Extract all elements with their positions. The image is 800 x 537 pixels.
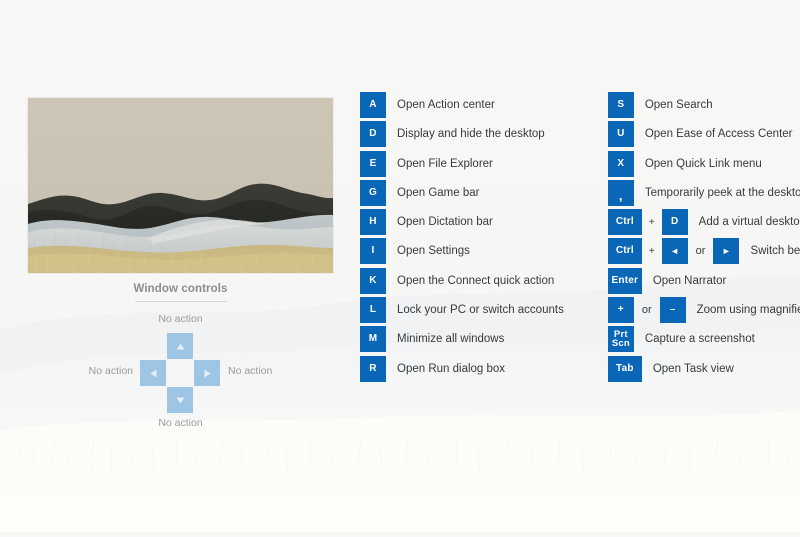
shortcut-row: EnterOpen Narrator [608, 268, 800, 294]
key-cap[interactable]: + [608, 297, 634, 323]
key-cap[interactable]: D [662, 209, 688, 235]
shortcut-row: Ctrl+DAdd a virtual desktop [608, 209, 800, 235]
shortcut-row: IOpen Settings [360, 238, 564, 264]
window-control-label-down: No action [158, 417, 202, 429]
shortcut-row: PrtScnCapture a screenshot [608, 326, 800, 352]
shortcut-row: KOpen the Connect quick action [360, 268, 564, 294]
key-cap[interactable]: PrtScn [608, 326, 634, 352]
shortcut-description: Switch between [750, 245, 800, 257]
shortcut-description: Open Dictation bar [397, 216, 493, 228]
shortcut-description: Open Narrator [653, 275, 727, 287]
arrow-right-icon [204, 369, 211, 378]
window-controls-title: Window controls [28, 283, 333, 295]
shortcut-description: Zoom using magnifier [697, 304, 800, 316]
window-controls-keypad: No action No action No action No action [28, 308, 333, 431]
shortcut-description: Open Task view [653, 363, 734, 375]
shortcut-description: Open Ease of Access Center [645, 128, 793, 140]
shortcut-row: DDisplay and hide the desktop [360, 121, 564, 147]
arrow-left-icon[interactable]: ◄ [662, 238, 688, 264]
shortcut-row: UOpen Ease of Access Center [608, 121, 800, 147]
shortcut-description: Open Game bar [397, 187, 479, 199]
key-cap[interactable]: K [360, 268, 386, 294]
key-cap[interactable]: – [660, 297, 686, 323]
shortcut-description: Open Settings [397, 245, 470, 257]
key-cap[interactable]: Enter [608, 268, 642, 294]
key-cap[interactable]: Ctrl [608, 238, 642, 264]
window-control-label-up: No action [158, 313, 202, 325]
divider [135, 301, 227, 302]
key-cap[interactable]: G [360, 180, 386, 206]
key-cap[interactable]: D [360, 121, 386, 147]
key-cap[interactable]: A [360, 92, 386, 118]
shortcut-description: Open Action center [397, 99, 495, 111]
arrow-left-icon [150, 369, 157, 378]
shortcut-row: AOpen Action center [360, 92, 564, 118]
shortcut-row: SOpen Search [608, 92, 800, 118]
shortcuts-column-right: SOpen SearchUOpen Ease of Access CenterX… [608, 92, 800, 385]
window-control-key-down[interactable] [167, 387, 193, 413]
shortcut-row: ROpen Run dialog box [360, 356, 564, 382]
key-cap-line: Scn [612, 339, 630, 349]
shortcut-description: Open the Connect quick action [397, 275, 554, 287]
key-cap[interactable]: H [360, 209, 386, 235]
key-cap[interactable]: E [360, 151, 386, 177]
shortcut-row: LLock your PC or switch accounts [360, 297, 564, 323]
arrow-up-icon [176, 343, 185, 350]
or-separator: or [688, 245, 714, 257]
arrow-right-icon[interactable]: ► [713, 238, 739, 264]
shortcut-row: Ctrl+◄or►Switch between [608, 238, 800, 264]
key-cap[interactable]: I [360, 238, 386, 264]
arrow-down-icon [176, 397, 185, 404]
shortcut-description: Display and hide the desktop [397, 128, 545, 140]
shortcut-row: XOpen Quick Link menu [608, 151, 800, 177]
key-cap[interactable]: R [360, 356, 386, 382]
or-separator: or [634, 304, 660, 316]
shortcut-description: Open Search [645, 99, 713, 111]
shortcuts-column-left: AOpen Action centerDDisplay and hide the… [360, 92, 564, 385]
shortcuts-list: AOpen Action centerDDisplay and hide the… [360, 92, 800, 385]
key-cap[interactable]: M [360, 326, 386, 352]
window-control-label-left: No action [89, 365, 133, 377]
window-control-key-up[interactable] [167, 333, 193, 359]
key-cap[interactable]: , [608, 180, 634, 206]
shortcut-description: Open Run dialog box [397, 363, 505, 375]
key-cap[interactable]: U [608, 121, 634, 147]
shortcut-row: EOpen File Explorer [360, 151, 564, 177]
key-cap[interactable]: Ctrl [608, 209, 642, 235]
shortcut-description: Add a virtual desktop [699, 216, 800, 228]
shortcut-description: Capture a screenshot [645, 333, 755, 345]
shortcut-description: Temporarily peek at the desktop [645, 187, 800, 199]
plus-separator: + [642, 246, 662, 257]
key-cap[interactable]: S [608, 92, 634, 118]
shortcut-row: +or–Zoom using magnifier [608, 297, 800, 323]
shortcut-description: Open Quick Link menu [645, 158, 762, 170]
key-cap[interactable]: Tab [608, 356, 642, 382]
window-control-key-right[interactable] [194, 360, 220, 386]
window-controls-section: Window controls No action No action No a… [28, 283, 333, 431]
key-cap[interactable]: L [360, 297, 386, 323]
window-control-label-right: No action [228, 365, 272, 377]
shortcut-description: Open File Explorer [397, 158, 493, 170]
wallpaper-preview-thumbnail [28, 98, 333, 273]
shortcut-row: ,Temporarily peek at the desktop [608, 180, 800, 206]
shortcut-row: TabOpen Task view [608, 356, 800, 382]
shortcut-description: Minimize all windows [397, 333, 504, 345]
shortcut-row: HOpen Dictation bar [360, 209, 564, 235]
plus-separator: + [642, 217, 662, 228]
window-control-key-left[interactable] [140, 360, 166, 386]
shortcut-row: MMinimize all windows [360, 326, 564, 352]
key-cap[interactable]: X [608, 151, 634, 177]
shortcut-row: GOpen Game bar [360, 180, 564, 206]
shortcut-description: Lock your PC or switch accounts [397, 304, 564, 316]
